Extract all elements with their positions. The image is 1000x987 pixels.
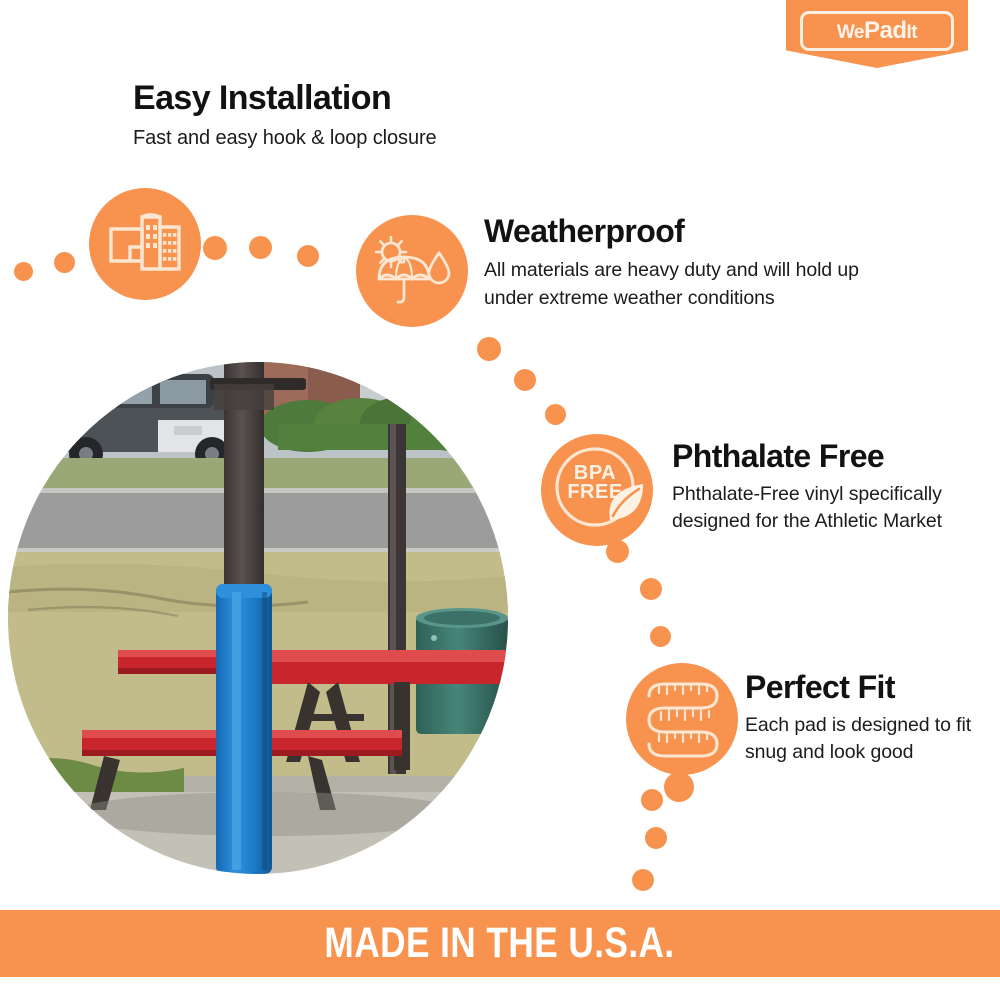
phthalate-free-icon-circle: BPA FREE [541,434,653,546]
path-dot [514,369,536,391]
logo-text: WePadIt [837,19,917,43]
feature-block-perfect-fit: Perfect Fit Each pad is designed to fit … [745,668,981,766]
path-dot [645,827,667,849]
path-dot [632,869,654,891]
feature-title: Easy Installation [133,78,563,118]
bpa-free-leaf-icon: BPA FREE [547,440,647,540]
path-dot [14,262,33,281]
path-dot [650,626,671,647]
sun-umbrella-raindrop-icon [371,235,453,307]
path-dot [54,252,75,273]
path-dot [477,337,501,361]
feature-description: Phthalate-Free vinyl specifically design… [672,481,972,535]
feature-description: Each pad is designed to fit snug and loo… [745,712,981,766]
brand-logo: WePadIt [786,0,968,68]
feature-title: Weatherproof [484,212,904,250]
path-dot [545,404,566,425]
path-dot [297,245,319,267]
logo-outline-box: WePadIt [800,11,954,51]
perfect-fit-icon-circle [626,663,738,775]
logo-text-it: It [907,22,918,43]
measuring-tape-icon [639,676,725,762]
logo-text-pad: Pad [864,17,907,44]
path-dot [249,236,272,259]
path-dot [641,789,663,811]
hook-and-loop-icon-circle [89,188,201,300]
product-photo [8,362,508,874]
free-label: FREE [547,483,643,502]
weatherproof-icon-circle [356,215,468,327]
feature-title: Phthalate Free [672,437,972,475]
product-photo-illustration [8,362,508,874]
feature-description: Fast and easy hook & loop closure [133,124,563,152]
feature-description: All materials are heavy duty and will ho… [484,256,904,312]
hook-and-loop-icon [108,211,182,277]
feature-block-weatherproof: Weatherproof All materials are heavy dut… [484,212,904,312]
bpa-free-icon-text: BPA FREE [547,464,643,502]
path-dot [203,236,227,260]
measuring-tape-end-dot [664,772,694,802]
feature-block-phthalate-free: Phthalate Free Phthalate-Free vinyl spec… [672,437,972,535]
made-in-usa-banner: MADE IN THE U.S.A. [0,910,1000,977]
made-in-usa-text: MADE IN THE U.S.A. [325,919,675,968]
feature-title: Perfect Fit [745,668,981,706]
infographic-canvas: WePadIt Easy Installation Fast and easy … [0,0,1000,987]
feature-block-easy-installation: Easy Installation Fast and easy hook & l… [133,78,563,152]
logo-text-we: We [837,22,864,43]
path-dot [640,578,662,600]
